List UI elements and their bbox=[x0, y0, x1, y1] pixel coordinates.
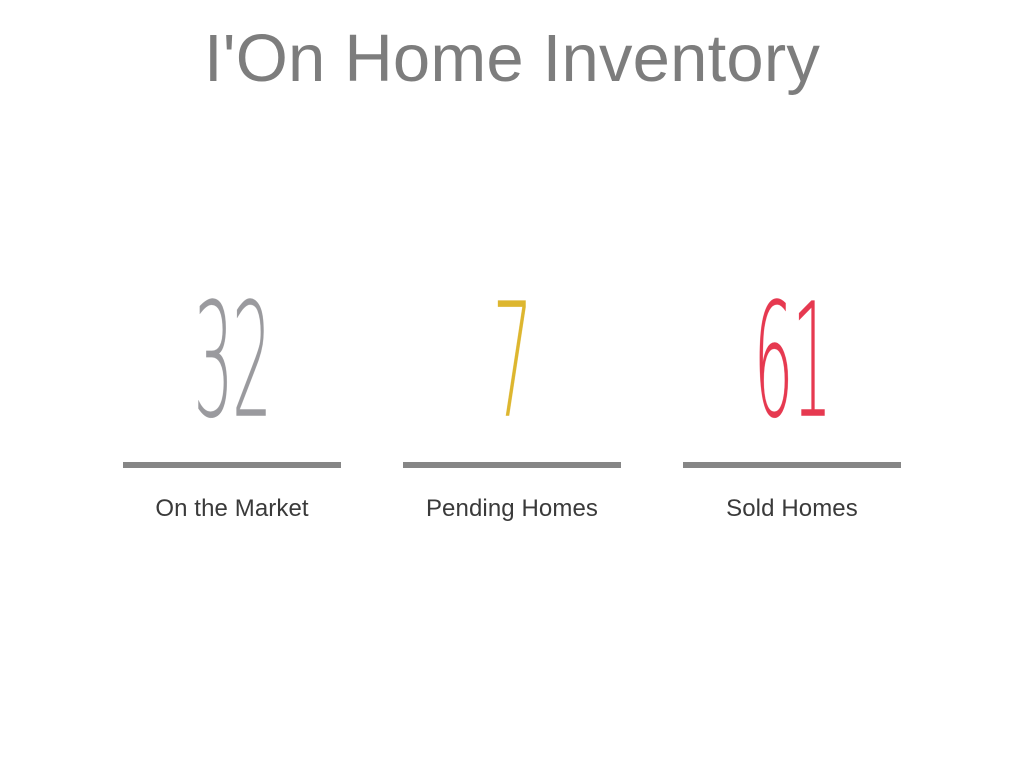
stat-card-pending-homes: 7 Pending Homes bbox=[392, 280, 632, 522]
stat-card-on-the-market: 32 On the Market bbox=[112, 280, 352, 522]
stat-divider-on-the-market bbox=[123, 462, 341, 468]
stat-value-on-the-market: 32 bbox=[193, 282, 270, 440]
stat-label-sold-homes: Sold Homes bbox=[726, 496, 858, 522]
stat-value-container-pending-homes: 7 bbox=[392, 280, 632, 440]
slide-canvas: I'On Home Inventory 32 On the Market 7 P… bbox=[0, 0, 1024, 768]
stat-label-pending-homes: Pending Homes bbox=[426, 496, 598, 522]
stat-value-container-on-the-market: 32 bbox=[112, 280, 352, 440]
stats-row: 32 On the Market 7 Pending Homes 61 Sold… bbox=[112, 280, 912, 540]
stat-divider-pending-homes bbox=[403, 462, 621, 468]
stat-label-on-the-market: On the Market bbox=[155, 496, 308, 522]
stat-value-sold-homes: 61 bbox=[753, 282, 830, 440]
stat-card-sold-homes: 61 Sold Homes bbox=[672, 280, 912, 522]
stat-value-container-sold-homes: 61 bbox=[672, 280, 912, 440]
page-title: I'On Home Inventory bbox=[0, 21, 1024, 96]
stat-value-pending-homes: 7 bbox=[493, 282, 532, 440]
stat-divider-sold-homes bbox=[683, 462, 901, 468]
